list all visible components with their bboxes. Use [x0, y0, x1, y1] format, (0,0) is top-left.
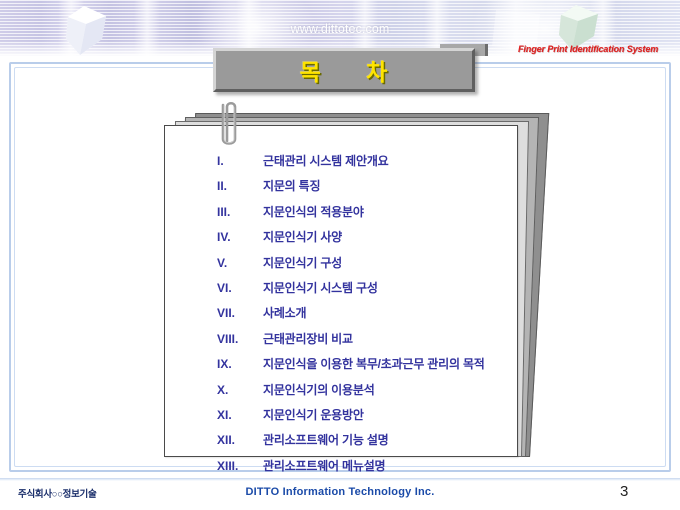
- toc-item-label: 지문의 특징: [263, 177, 320, 194]
- toc-item[interactable]: XI.지문인식기 운용방안: [165, 406, 517, 431]
- slide-title-plaque: 목 차: [213, 48, 475, 92]
- toc-item-label: 지문인식기의 이용분석: [263, 381, 375, 398]
- toc-item[interactable]: VII.사례소개: [165, 304, 517, 329]
- toc-item-number: VIII.: [217, 332, 263, 346]
- toc-item[interactable]: V.지문인식기 구성: [165, 254, 517, 279]
- toc-item-number: XII.: [217, 433, 263, 447]
- toc-item-number: XIII.: [217, 459, 263, 473]
- page-title: 목 차: [300, 53, 389, 87]
- toc-item-label: 지문인식기 사양: [263, 228, 342, 245]
- brand-tagline-text: Finger Print Identification System: [518, 44, 658, 54]
- toc-item-label: 관리소프트웨어 기능 설명: [263, 431, 389, 448]
- toc-item[interactable]: VIII.근태관리장비 비교: [165, 330, 517, 355]
- toc-item[interactable]: II.지문의 특징: [165, 177, 517, 202]
- toc-item-label: 지문인식기 구성: [263, 254, 342, 271]
- toc-item[interactable]: III.지문인식의 적용분야: [165, 203, 517, 228]
- toc-item-number: XI.: [217, 408, 263, 422]
- toc-item-number: IX.: [217, 357, 263, 371]
- toc-item-label: 근태관리장비 비교: [263, 330, 353, 347]
- toc-item[interactable]: IV.지문인식기 사양: [165, 228, 517, 253]
- toc-item-number: III.: [217, 205, 263, 219]
- toc-item[interactable]: I.근태관리 시스템 제안개요: [165, 152, 517, 177]
- toc-item-number: II.: [217, 179, 263, 193]
- toc-item-number: VII.: [217, 306, 263, 320]
- toc-item-number: VI.: [217, 281, 263, 295]
- toc-item[interactable]: VI.지문인식기 시스템 구성: [165, 279, 517, 304]
- paperclip-icon: [212, 99, 246, 153]
- toc-item[interactable]: X.지문인식기의 이용분석: [165, 381, 517, 406]
- toc-item-label: 지문인식기 운용방안: [263, 406, 364, 423]
- toc-item-label: 관리소프트웨어 메뉴설명: [263, 457, 385, 474]
- site-url-text: www.dittotec.com: [0, 22, 680, 36]
- toc-item-number: I.: [217, 154, 263, 168]
- toc-item[interactable]: XIII.관리소프트웨어 메뉴설명: [165, 457, 517, 482]
- paper-stack: I.근태관리 시스템 제안개요II.지문의 특징III.지문인식의 적용분야IV…: [150, 107, 530, 465]
- slide-canvas: www.dittotec.com Finger Print Identifica…: [0, 0, 680, 510]
- toc-item-label: 사례소개: [263, 304, 306, 321]
- toc-item[interactable]: IX.지문인식을 이용한 복무/초과근무 관리의 목적: [165, 355, 517, 380]
- page-number: 3: [620, 483, 628, 500]
- toc-item-label: 지문인식기 시스템 구성: [263, 279, 378, 296]
- toc-item-label: 지문인식을 이용한 복무/초과근무 관리의 목적: [263, 355, 485, 372]
- toc-item-label: 근태관리 시스템 제안개요: [263, 152, 389, 169]
- table-of-contents-list: I.근태관리 시스템 제안개요II.지문의 특징III.지문인식의 적용분야IV…: [165, 126, 517, 456]
- toc-item-label: 지문인식의 적용분야: [263, 203, 364, 220]
- footer-company-en: DITTO Information Technology Inc.: [0, 486, 680, 498]
- toc-item-number: IV.: [217, 230, 263, 244]
- paper-sheet-front: I.근태관리 시스템 제안개요II.지문의 특징III.지문인식의 적용분야IV…: [164, 125, 518, 457]
- toc-item[interactable]: XII.관리소프트웨어 기능 설명: [165, 431, 517, 456]
- toc-item-number: X.: [217, 383, 263, 397]
- toc-item-number: V.: [217, 256, 263, 270]
